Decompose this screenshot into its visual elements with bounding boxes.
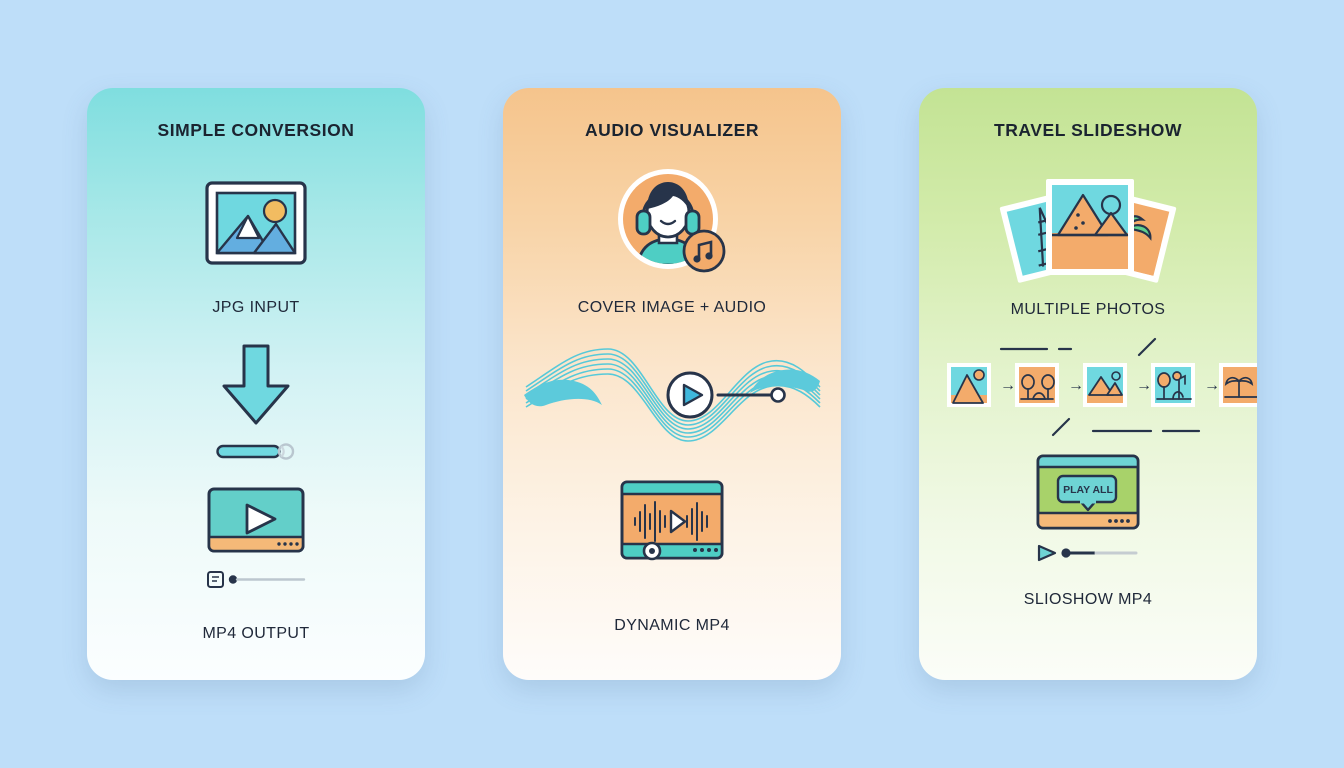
svg-text:→: →: [1136, 377, 1152, 394]
output-caption: MP4 OUTPUT: [202, 625, 309, 643]
image-photo-icon: [87, 169, 425, 277]
photo-stack-icon: [919, 171, 1257, 283]
progress-bar-icon: [216, 443, 296, 459]
output-caption: SLIOSHOW MP4: [1024, 591, 1152, 609]
svg-text:→: →: [1204, 377, 1220, 394]
card-audio-visualizer[interactable]: AUDIO VISUALIZER: [503, 88, 841, 680]
input-caption: JPG INPUT: [212, 299, 299, 317]
video-player-icon: [87, 483, 425, 593]
input-caption: COVER IMAGE + AUDIO: [578, 299, 767, 317]
conversion-step: [87, 335, 425, 465]
cards-row: SIMPLE CONVERSION JPG INPUT: [0, 0, 1344, 768]
output-caption: DYNAMIC MP4: [614, 617, 730, 635]
down-arrow-icon: [215, 341, 297, 433]
timeline-scrubber-icon: [206, 569, 306, 589]
play-all-monitor-icon[interactable]: PLAY ALL: [919, 449, 1257, 569]
input-caption: MULTIPLE PHOTOS: [1011, 301, 1166, 319]
play-all-label: PLAY ALL: [1063, 484, 1113, 496]
card-title: TRAVEL SLIDESHOW: [994, 120, 1182, 141]
audio-waveform-icon: [503, 323, 841, 463]
card-title: SIMPLE CONVERSION: [157, 120, 354, 141]
card-title: AUDIO VISUALIZER: [585, 120, 759, 141]
avatar-headphones-icon: [503, 165, 841, 275]
playback-scrubber-icon: [1036, 542, 1140, 564]
svg-text:→: →: [1068, 377, 1084, 394]
svg-text:→: →: [1000, 377, 1016, 394]
waveform-video-player-icon: [503, 469, 841, 579]
photo-sequence-strip-icon: → → →: [919, 329, 1257, 449]
card-simple-conversion[interactable]: SIMPLE CONVERSION JPG INPUT: [87, 88, 425, 680]
card-travel-slideshow[interactable]: TRAVEL SLIDESHOW: [919, 88, 1257, 680]
